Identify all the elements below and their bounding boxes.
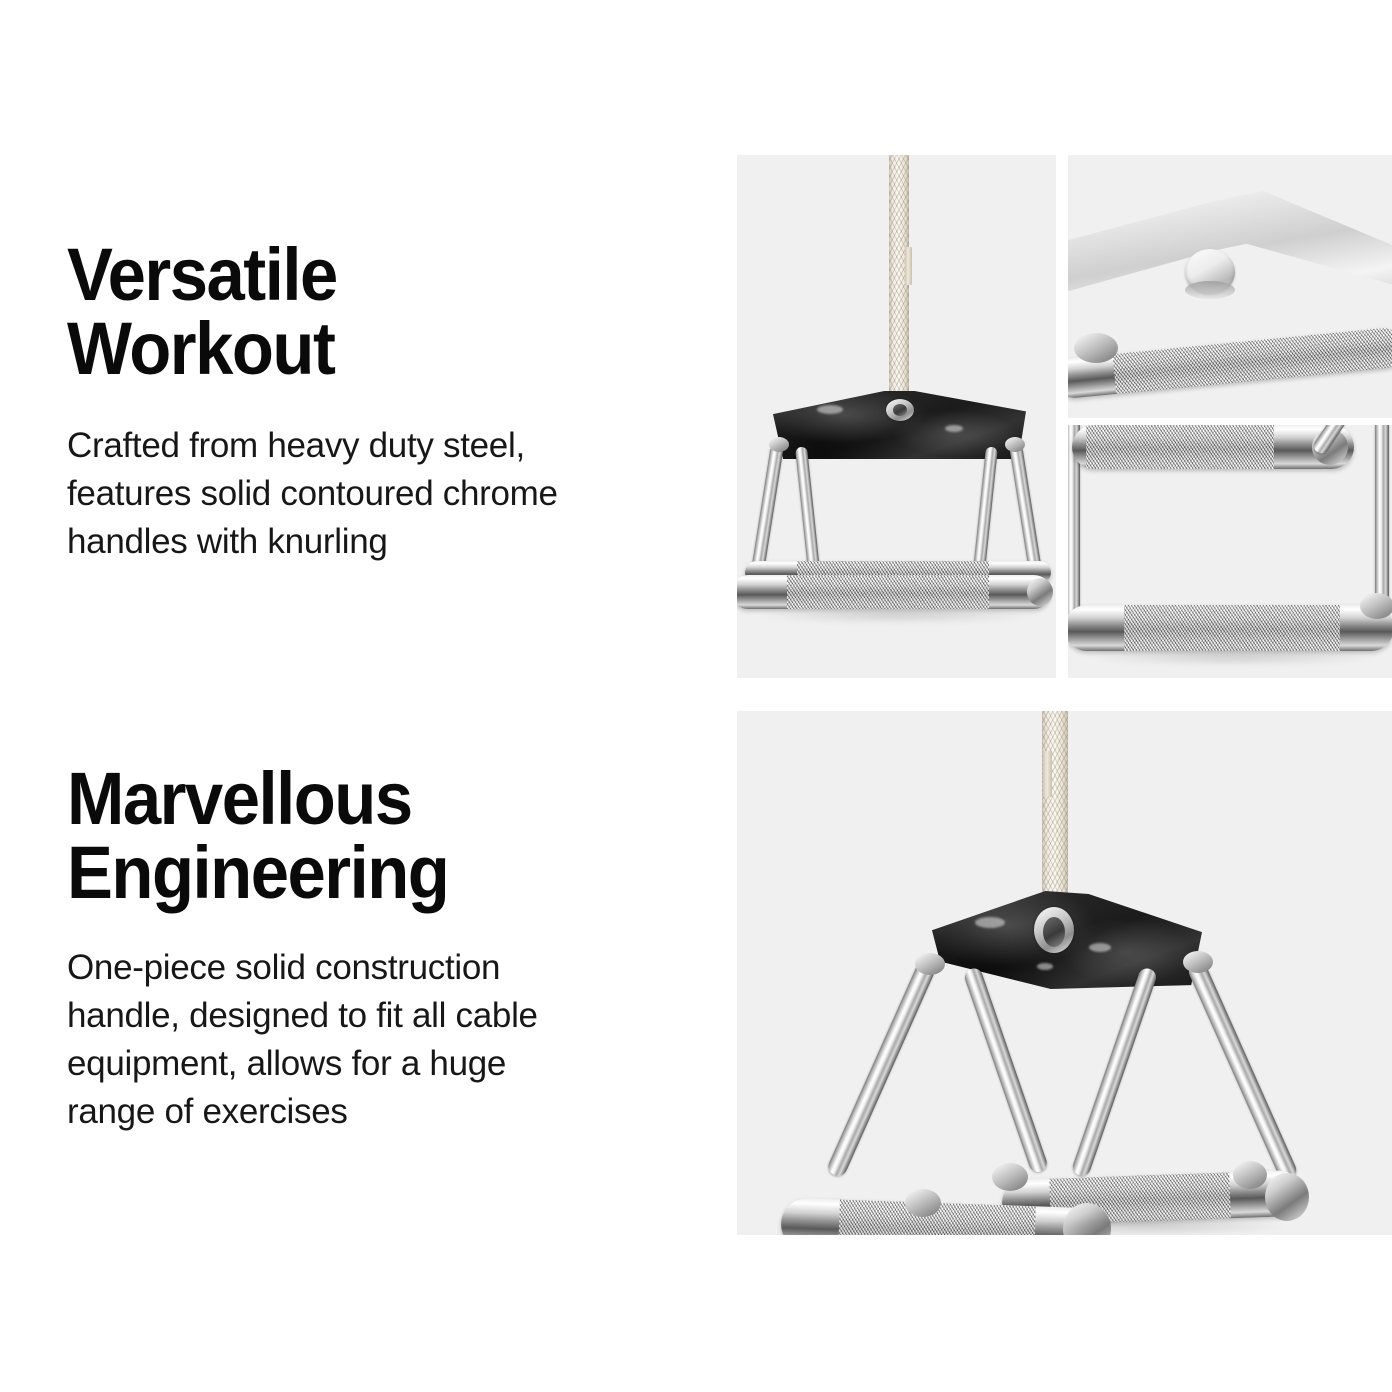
chrome-leg — [1009, 444, 1043, 577]
feature-block-versatile-workout: Versatile Workout Crafted from heavy dut… — [67, 238, 707, 566]
product-photo-knurling-closeup — [1068, 425, 1392, 678]
plate-highlight — [975, 917, 1005, 928]
product-photo-front-view — [737, 155, 1056, 678]
chrome-leg — [1071, 966, 1159, 1178]
weld-joint — [1005, 437, 1025, 452]
weld-joint — [905, 1189, 941, 1217]
marketing-infographic: Versatile Workout Crafted from heavy dut… — [0, 0, 1392, 1392]
feature-body: Crafted from heavy duty steel, features … — [67, 422, 707, 566]
knurling-texture — [1124, 605, 1340, 651]
eyelet-hole — [1043, 917, 1065, 947]
feature-body: One-piece solid construction handle, des… — [67, 944, 707, 1136]
knurling-texture — [787, 575, 989, 609]
chrome-leg — [750, 444, 784, 577]
product-photo-plate-closeup — [1068, 155, 1392, 418]
feature-heading: Versatile Workout — [67, 238, 662, 386]
knurling-texture — [1086, 425, 1274, 469]
plate-highlight — [1037, 963, 1053, 970]
text-column: Versatile Workout Crafted from heavy dut… — [0, 0, 737, 1392]
bar-reflection — [1088, 649, 1378, 665]
bar-end-cap — [1265, 1173, 1309, 1221]
plate-highlight — [817, 405, 843, 414]
bar-reflection — [757, 607, 1037, 623]
weld-joint — [769, 437, 789, 452]
chrome-leg — [962, 966, 1049, 1174]
grip-bar-front — [737, 575, 1051, 609]
weld-joint — [1360, 593, 1392, 619]
chrome-leg — [795, 446, 821, 578]
weld-joint — [1183, 951, 1213, 973]
chrome-leg — [1186, 959, 1299, 1182]
chrome-side-rail — [1375, 425, 1389, 619]
strap-tag — [1043, 751, 1052, 797]
eyelet-hole — [893, 404, 907, 416]
bar-end-cap — [1027, 578, 1053, 606]
plate-highlight — [945, 425, 963, 432]
grip-bar-lower — [1068, 605, 1392, 651]
chrome-leg — [825, 959, 937, 1179]
weld-joint — [1233, 1161, 1267, 1189]
attachment-hole-rim — [1185, 281, 1235, 299]
weld-joint — [992, 1163, 1028, 1191]
strap-tag — [905, 247, 912, 285]
chrome-leg — [972, 446, 998, 578]
weld-joint — [915, 953, 945, 975]
bar-reflection — [1017, 1217, 1287, 1235]
weld-joint — [1074, 333, 1118, 363]
feature-heading: Marvellous Engineering — [67, 762, 662, 910]
knurling-texture — [1113, 327, 1392, 394]
product-photo-angled-view — [737, 711, 1392, 1235]
plate-highlight — [1089, 943, 1111, 952]
grip-bar-closeup — [1068, 326, 1392, 399]
nylon-strap — [1042, 711, 1068, 905]
feature-block-marvellous-engineering: Marvellous Engineering One-piece solid c… — [67, 762, 707, 1136]
